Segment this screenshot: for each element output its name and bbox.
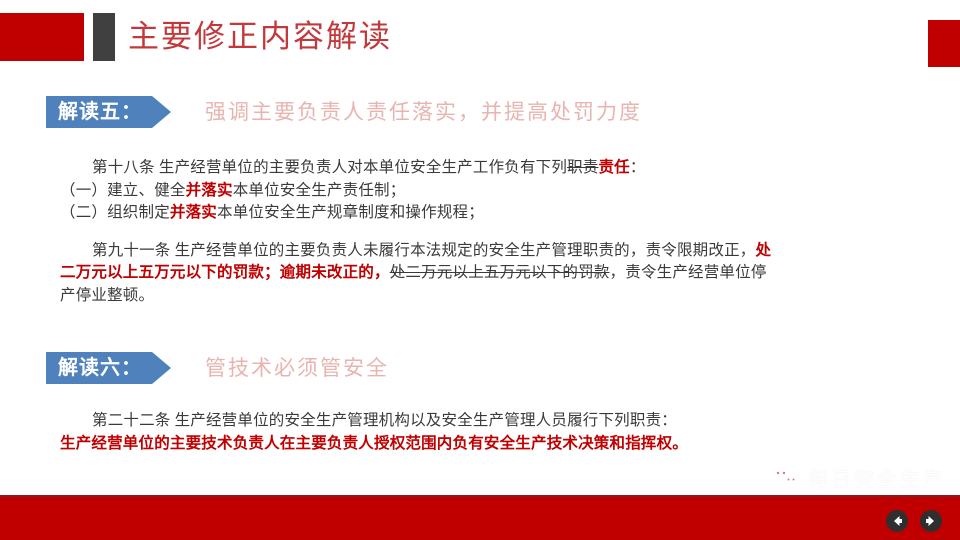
- banner-arrow-icon-six: [152, 352, 171, 384]
- section-tag-five: 解读五：: [46, 96, 152, 128]
- section-six-body: 第二十二条 生产经营单位的安全生产管理机构以及安全生产管理人员履行下列职责：生产…: [60, 410, 920, 455]
- text-line: （一）建立、健全并落实本单位安全生产责任制；: [60, 180, 920, 203]
- banner-arrow-icon-five: [152, 96, 171, 128]
- text-run: 责任: [598, 159, 629, 176]
- section-tag-six: 解读六：: [46, 352, 152, 384]
- text-run: （二）组织制定: [60, 204, 170, 221]
- wechat-icon: [770, 465, 800, 491]
- text-run: 产停业整顿。: [60, 287, 154, 304]
- section-subtitle-five: 强调主要负责人责任落实，并提高处罚力度: [205, 96, 642, 128]
- paragraph: 第二十二条 生产经营单位的安全生产管理机构以及安全生产管理人员履行下列职责：生产…: [60, 410, 920, 455]
- paragraph: 第九十一条 生产经营单位的主要负责人未履行本法规定的安全生产管理职责的，责令限期…: [60, 240, 920, 308]
- text-run: 本单位安全生产规章制度和操作规程；: [217, 204, 484, 221]
- section-banner-six: 解读六：管技术必须管安全: [46, 352, 389, 384]
- text-run: 第九十一条 生产经营单位的主要负责人未履行本法规定的安全生产管理职责的，责令限期…: [92, 242, 755, 259]
- slide-navigation[interactable]: [886, 510, 942, 532]
- text-run: 并落实: [170, 204, 217, 221]
- text-line: 生产经营单位的主要技术负责人在主要负责人授权范围内负有安全生产技术决策和指挥权。: [60, 433, 920, 456]
- text-run: 处: [755, 242, 771, 259]
- page-title: 主要修正内容解读: [128, 14, 392, 60]
- watermark-text: 每日安全生产: [808, 463, 946, 492]
- text-line: 第二十二条 生产经营单位的安全生产管理机构以及安全生产管理人员履行下列职责：: [60, 410, 920, 433]
- text-run: 并落实: [186, 182, 233, 199]
- text-run: 处二万元以上五万元以下的罚款: [390, 264, 610, 281]
- text-run: 二万元以上五万元以下的罚款；逾期未改正的，: [60, 264, 390, 281]
- text-line: 产停业整顿。: [60, 285, 920, 308]
- text-run: 第二十二条 生产经营单位的安全生产管理机构以及安全生产管理人员履行下列职责：: [92, 412, 677, 429]
- text-line: 二万元以上五万元以下的罚款；逾期未改正的，处二万元以上五万元以下的罚款，责令生产…: [60, 262, 920, 285]
- text-line: 第九十一条 生产经营单位的主要负责人未履行本法规定的安全生产管理职责的，责令限期…: [60, 240, 920, 263]
- footer-bar: [0, 497, 960, 540]
- text-line: 第十八条 生产经营单位的主要负责人对本单位安全生产工作负有下列职责责任：: [60, 157, 920, 180]
- text-run: ：: [630, 159, 646, 176]
- text-run: 第十八条 生产经营单位的主要负责人对本单位安全生产工作负有下列: [92, 159, 567, 176]
- section-subtitle-six: 管技术必须管安全: [205, 352, 389, 384]
- arrow-left-icon[interactable]: [886, 510, 908, 532]
- arrow-right-icon[interactable]: [920, 510, 942, 532]
- header-dark-block: [93, 13, 115, 61]
- paragraph: 第十八条 生产经营单位的主要负责人对本单位安全生产工作负有下列职责责任：（一）建…: [60, 157, 920, 225]
- header-red-block: [0, 13, 84, 61]
- slide-canvas: 主要修正内容解读 解读五：强调主要负责人责任落实，并提高处罚力度 第十八条 生产…: [0, 0, 960, 540]
- text-line: （二）组织制定并落实本单位安全生产规章制度和操作规程；: [60, 202, 920, 225]
- watermark: 每日安全生产: [770, 463, 946, 492]
- text-run: 职责: [567, 159, 598, 176]
- header-right-red-block: [928, 20, 960, 67]
- text-run: ，责令生产经营单位停: [610, 264, 767, 281]
- section-banner-five: 解读五：强调主要负责人责任落实，并提高处罚力度: [46, 96, 642, 128]
- text-run: （一）建立、健全: [60, 182, 186, 199]
- section-five-body: 第十八条 生产经营单位的主要负责人对本单位安全生产工作负有下列职责责任：（一）建…: [60, 157, 920, 307]
- text-run: 生产经营单位的主要技术负责人在主要负责人授权范围内负有安全生产技术决策和指挥权。: [60, 435, 688, 452]
- text-run: 本单位安全生产责任制；: [233, 182, 406, 199]
